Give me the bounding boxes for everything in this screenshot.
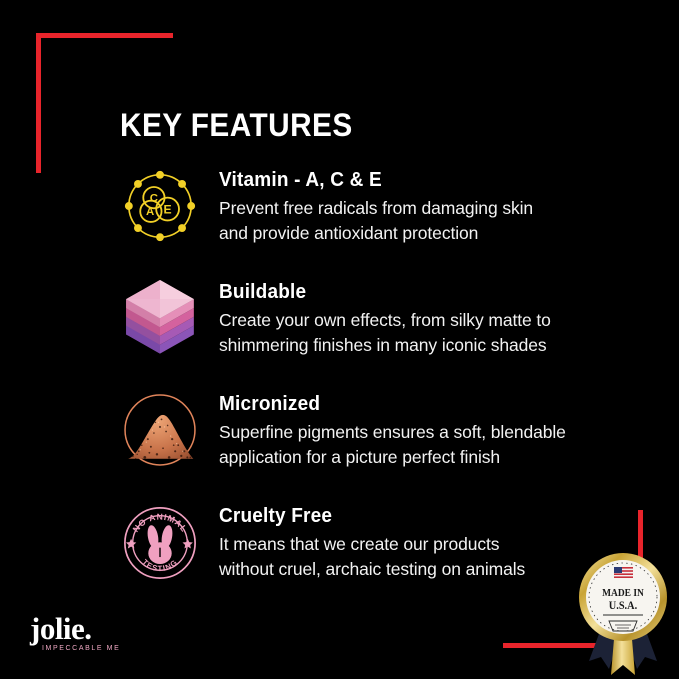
feature-title: Cruelty Free [219,505,510,527]
vitamin-atom-icon: C A E [122,168,198,244]
feature-description: Prevent free radicals from damaging skin… [219,196,533,246]
svg-text:MADE IN: MADE IN [602,587,644,599]
brand-wordmark: jolie. [30,614,120,643]
svg-text:E: E [164,203,172,217]
feature-icon-container: NO ANIMAL TESTING [118,502,202,586]
layered-cube-icon [123,280,197,358]
svg-text:U.S.A.: U.S.A. [609,599,638,612]
feature-title: Buildable [219,281,534,303]
key-features-panel: KEY FEATURES C [0,0,679,679]
feature-title: Vitamin - A, C & E [219,169,517,191]
feature-title: Micronized [219,393,548,415]
feature-item-micronized: Micronized Superfine pigments ensures a … [118,390,638,502]
bracket-arm-vertical [36,33,41,173]
feature-icon-container [118,278,202,362]
feature-item-cruelty-free: NO ANIMAL TESTING Cruelty Free It means … [118,502,638,614]
feature-description: Superfine pigments ensures a soft, blend… [219,420,566,470]
feature-description: Create your own effects, from silky matt… [219,308,551,358]
cruelty-free-bunny-icon: NO ANIMAL TESTING [121,504,199,582]
svg-text:C: C [150,192,158,204]
feature-text-block: Vitamin - A, C & E Prevent free radicals… [202,166,533,246]
micronized-powder-icon [122,392,198,468]
feature-text-block: Micronized Superfine pigments ensures a … [202,390,566,470]
bracket-arm-horizontal [36,33,173,38]
feature-list: C A E Vitamin - A, C & E Prevent free ra… [118,166,638,614]
made-in-usa-seal: MADE IN U.S.A. [575,549,671,679]
feature-icon-container [118,390,202,474]
feature-text-block: Cruelty Free It means that we create our… [202,502,525,582]
corner-bracket-top-left [36,33,176,173]
brand-logo: jolie. IMPECCABLE ME [30,614,120,652]
feature-icon-container: C A E [118,166,202,250]
feature-item-buildable: Buildable Create your own effects, from … [118,278,638,390]
svg-text:A: A [146,206,154,218]
seal-graphic: MADE IN U.S.A. [575,549,671,679]
page-title: KEY FEATURES [120,107,353,144]
brand-tagline: IMPECCABLE ME [42,645,120,652]
feature-item-vitamin: C A E Vitamin - A, C & E Prevent free ra… [118,166,638,278]
feature-description: It means that we create our products wit… [219,532,525,582]
feature-text-block: Buildable Create your own effects, from … [202,278,551,358]
